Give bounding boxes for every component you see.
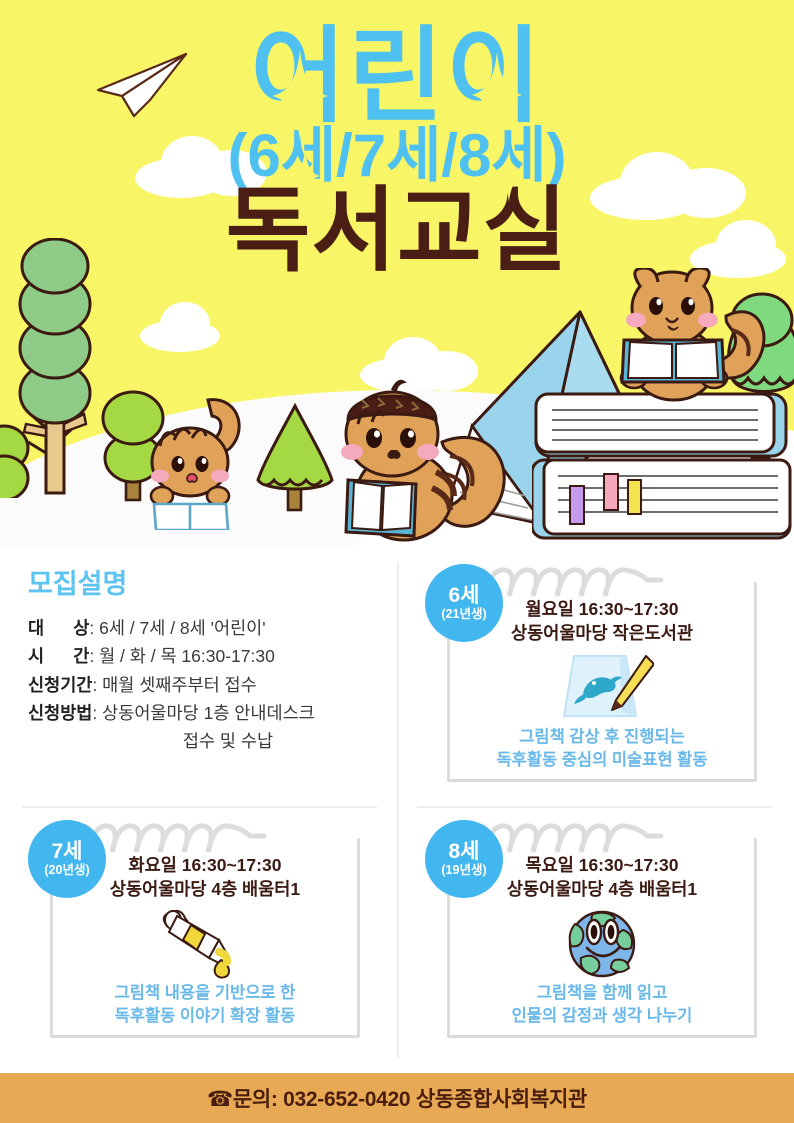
footer-contact-text: ☎문의: 032-652-0420 상동종합사회복지관 [207, 1083, 587, 1113]
age-card-7: 7세 (20년생) 화요일 16:30~17:30 상동어울마당 4층 배움터1 [28, 820, 376, 1048]
card-desc-line1-8: 그림책을 함께 읽고 [447, 982, 757, 1005]
smiling-earth-icon [563, 906, 641, 978]
recruit-value-period: : 매월 셋째주부터 접수 [92, 671, 256, 699]
squirrel-small-left [140, 390, 260, 530]
card-desc-7: 그림책 내용을 기반으로 한 독후활동 이야기 확장 활동 [50, 982, 360, 1029]
card-desc-8: 그림책을 함께 읽고 인물의 감정과 생각 나누기 [447, 982, 757, 1029]
horizontal-divider-right [417, 806, 772, 808]
paint-tube-icon [157, 906, 253, 980]
title-line-2: (6세/7세/8세) [0, 124, 794, 187]
age-badge-8: 8세 (19년생) [425, 820, 503, 898]
recruit-info-section: 모집설명 대 상 : 6세 / 7세 / 8세 '어린이' 시 간 : 월 / … [28, 562, 388, 756]
recruit-heading: 모집설명 [28, 562, 388, 601]
footer-contact-bar: ☎문의: 032-652-0420 상동종합사회복지관 [0, 1073, 794, 1123]
age-badge-year-7: (20년생) [44, 864, 89, 877]
card-icon-wrap-7 [50, 906, 360, 978]
age-card-6: 6세 (21년생) 월요일 16:30~17:30 상동어울마당 작은도서관 [425, 564, 773, 792]
bush-left-edge [0, 418, 48, 498]
card-desc-line2-7: 독후활동 이야기 확장 활동 [50, 1005, 360, 1028]
squirrel-top-on-books [600, 268, 780, 408]
card-desc-line1-6: 그림책 감상 후 진행되는 [447, 726, 757, 749]
recruit-label-target: 대 상 [28, 614, 89, 642]
card-desc-line2-8: 인물의 감정과 생각 나누기 [447, 1005, 757, 1028]
recruit-row-time: 시 간 : 월 / 화 / 목 16:30-17:30 [28, 642, 388, 670]
recruit-label-period: 신청기간 [28, 671, 92, 699]
drawing-paper-pencil-icon [550, 650, 654, 722]
squirrel-big-center [318, 376, 528, 556]
recruit-label-time: 시 간 [28, 642, 89, 670]
age-badge-7: 7세 (20년생) [28, 820, 106, 898]
recruit-value-method: : 상동어울마당 1층 안내데스크 [92, 699, 314, 727]
age-badge-age-8: 8세 [449, 841, 480, 863]
vertical-divider [397, 562, 399, 1058]
card-desc-6: 그림책 감상 후 진행되는 독후활동 중심의 미술표현 활동 [447, 726, 757, 773]
card-icon-wrap-6 [447, 650, 757, 722]
age-badge-6: 6세 (21년생) [425, 564, 503, 642]
poster-title: 어린이 (6세/7세/8세) 독서교실 [0, 28, 794, 277]
card-desc-line2-6: 독후활동 중심의 미술표현 활동 [447, 749, 757, 772]
recruit-value-time: : 월 / 화 / 목 16:30-17:30 [89, 642, 274, 670]
hero-illustration-area: 어린이 (6세/7세/8세) 독서교실 [0, 0, 794, 560]
recruit-row-period: 신청기간 : 매월 셋째주부터 접수 [28, 671, 388, 699]
title-line-3: 독서교실 [0, 185, 794, 277]
stacked-books [532, 386, 794, 546]
recruit-method-continuation: 접수 및 수납 [28, 727, 388, 755]
age-badge-year-6: (21년생) [441, 608, 486, 621]
card-icon-wrap-8 [447, 906, 757, 978]
recruit-row-method: 신청방법 : 상동어울마당 1층 안내데스크 [28, 699, 388, 727]
recruit-row-target: 대 상 : 6세 / 7세 / 8세 '어린이' [28, 614, 388, 642]
age-badge-age-6: 6세 [449, 585, 480, 607]
age-badge-year-8: (19년생) [441, 864, 486, 877]
recruit-value-target: : 6세 / 7세 / 8세 '어린이' [89, 614, 265, 642]
title-line-1: 어린이 [0, 28, 794, 128]
poster-root: 어린이 (6세/7세/8세) 독서교실 모집설명 대 상 : 6세 / 7세 [0, 0, 794, 1123]
card-desc-line1-7: 그림책 내용을 기반으로 한 [50, 982, 360, 1005]
horizontal-divider-left [22, 806, 377, 808]
recruit-label-method: 신청방법 [28, 699, 92, 727]
age-badge-age-7: 7세 [52, 841, 83, 863]
content-area: 모집설명 대 상 : 6세 / 7세 / 8세 '어린이' 시 간 : 월 / … [0, 548, 794, 1073]
age-card-8: 8세 (19년생) 목요일 16:30~17:30 상동어울마당 4층 배움터1 [425, 820, 773, 1048]
